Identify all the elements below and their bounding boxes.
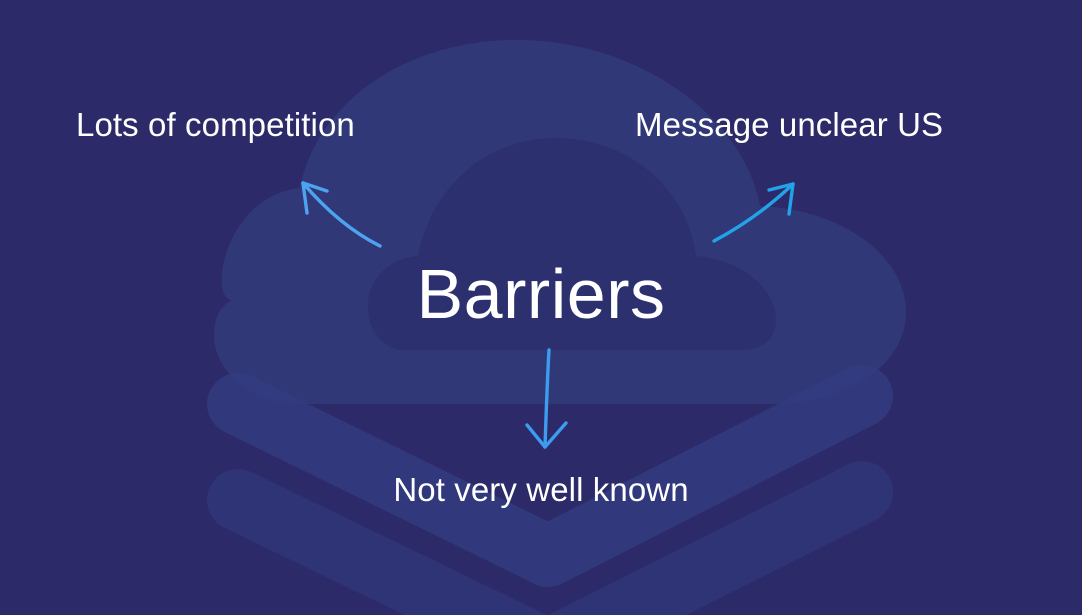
slide-canvas: Lots of competition Message unclear US B… xyxy=(0,0,1082,615)
branch-label-bottom: Not very well known xyxy=(0,470,1082,510)
branch-label-top-left: Lots of competition xyxy=(76,105,355,145)
arrow-down-icon xyxy=(527,350,566,447)
arrow-up-right-icon xyxy=(714,184,793,241)
branch-label-top-right: Message unclear US xyxy=(635,105,943,145)
center-topic-label: Barriers xyxy=(0,253,1082,335)
arrow-up-left-icon xyxy=(303,183,380,246)
